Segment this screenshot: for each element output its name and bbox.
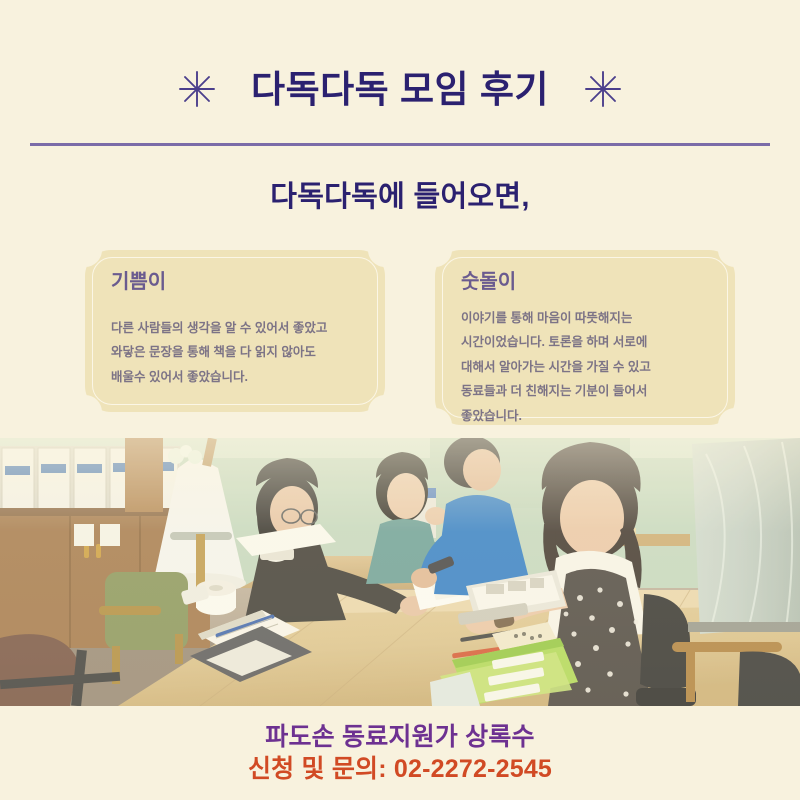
corner-notch <box>718 408 752 442</box>
corner-notch <box>368 395 402 429</box>
testimonial-text: 이야기를 통해 마음이 따뜻해지는 시간이었습니다. 토론을 하며 서로에 대해… <box>461 306 717 428</box>
testimonial-text: 다른 사람들의 생각을 알 수 있어서 좋았고 와닿은 문장을 통해 책을 다 … <box>111 316 367 389</box>
corner-notch <box>418 233 452 267</box>
poster-header: 다독다독 모임 후기 <box>0 58 800 120</box>
review-poster: 다독다독 모임 후기 다독다독에 들어오면, 기쁨이 다른 사람들의 생각을 알… <box>0 0 800 800</box>
section-subtitle: 다독다독에 들어오면, <box>0 180 800 215</box>
meeting-photo-illustration <box>0 438 800 706</box>
testimonial-author: 기쁨이 <box>111 272 166 292</box>
corner-notch <box>68 233 102 267</box>
corner-notch <box>68 395 102 429</box>
corner-notch <box>718 233 752 267</box>
poster-footer: 파도손 동료지원가 상록수 신청 및 문의: 02-2272-2545 <box>0 706 800 800</box>
sparkle-star-icon-left <box>177 69 217 109</box>
header-divider <box>30 143 770 146</box>
page-title: 다독다독 모임 후기 <box>251 71 549 108</box>
testimonial-card: 숫돌이 이야기를 통해 마음이 따뜻해지는 시간이었습니다. 토론을 하며 서로… <box>435 250 735 425</box>
corner-notch <box>368 233 402 267</box>
testimonial-card: 기쁨이 다른 사람들의 생각을 알 수 있어서 좋았고 와닿은 문장을 통해 책… <box>85 250 385 412</box>
corner-notch <box>418 408 452 442</box>
sparkle-star-icon-right <box>583 69 623 109</box>
meeting-photo <box>0 438 800 706</box>
organization-name: 파도손 동료지원가 상록수 <box>265 725 535 750</box>
testimonial-author: 숫돌이 <box>461 272 516 292</box>
contact-info: 신청 및 문의: 02-2272-2545 <box>248 757 552 782</box>
